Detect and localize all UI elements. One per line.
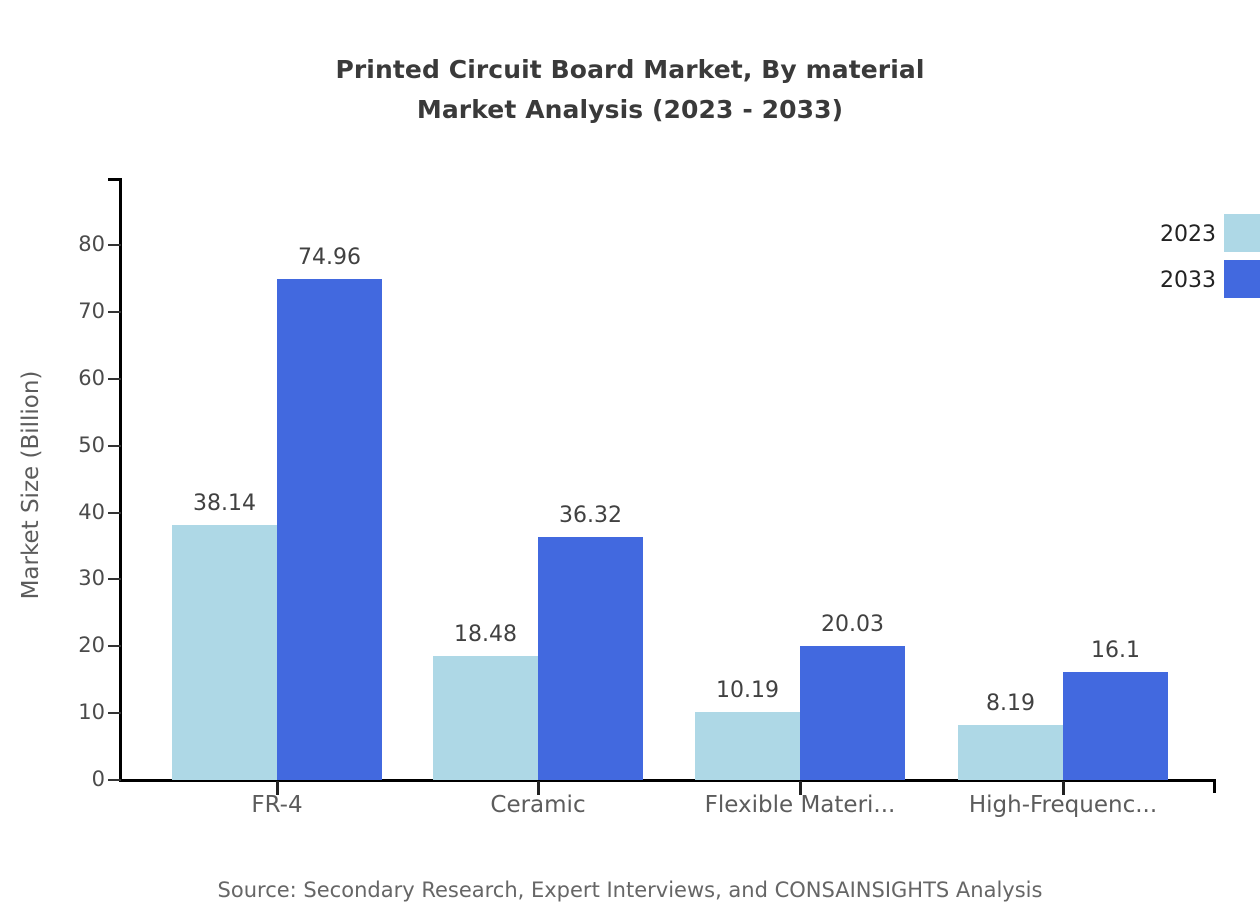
bar-2023-Ceramic[interactable] (433, 656, 538, 780)
bar-value-label: 10.19 (675, 680, 820, 702)
bar-2023-Flexible Materi...[interactable] (695, 712, 800, 780)
y-axis-tick-label: 80 (78, 234, 105, 255)
y-axis-tick (108, 645, 121, 647)
chart-legend: 2023 2033 (1120, 214, 1260, 310)
y-axis-tick (108, 779, 121, 781)
y-axis-tick (108, 378, 121, 380)
bar-2033-FR-4[interactable] (277, 279, 382, 780)
y-axis-tick-label: 0 (92, 769, 105, 790)
x-axis-category-label: Flexible Materi... (660, 793, 940, 818)
y-axis-tick-label: 20 (78, 635, 105, 656)
y-axis-tick (108, 311, 121, 313)
chart-subtitle: Market Analysis (2023 - 2033) (0, 90, 1260, 130)
legend-label: 2033 (1120, 270, 1216, 292)
source-note: Source: Secondary Research, Expert Inter… (0, 878, 1260, 902)
x-axis-right-cap (1213, 779, 1216, 793)
y-axis-tick-label: 70 (78, 301, 105, 322)
bar-value-label: 16.1 (1043, 640, 1188, 662)
bar-2023-High-Frequenc...[interactable] (958, 725, 1063, 780)
legend-label: 2023 (1120, 224, 1216, 246)
bar-value-label: 38.14 (152, 493, 297, 515)
bar-value-label: 36.32 (518, 505, 663, 527)
legend-item-2023[interactable]: 2023 (1120, 214, 1260, 256)
bar-2033-Flexible Materi...[interactable] (800, 646, 905, 780)
y-axis-spine (119, 178, 122, 782)
y-axis-tick (108, 445, 121, 447)
x-axis-category-label: High-Frequenc... (923, 793, 1203, 818)
y-axis-tick-label: 10 (78, 702, 105, 723)
bar-2033-High-Frequenc...[interactable] (1063, 672, 1168, 780)
y-axis-tick (108, 512, 121, 514)
legend-swatch (1224, 214, 1260, 252)
bar-value-label: 18.48 (413, 624, 558, 646)
y-axis-tick (108, 578, 121, 580)
chart-title: Printed Circuit Board Market, By materia… (0, 50, 1260, 90)
y-axis-top-cap (108, 178, 122, 181)
y-axis-tick-label: 40 (78, 502, 105, 523)
y-axis-title: Market Size (Billion) (14, 355, 48, 615)
y-axis-tick-label: 50 (78, 435, 105, 456)
bar-value-label: 20.03 (780, 614, 925, 636)
bar-value-label: 74.96 (257, 247, 402, 269)
bar-value-label: 8.19 (938, 693, 1083, 715)
y-axis-tick (108, 712, 121, 714)
x-axis-category-label: Ceramic (398, 793, 678, 818)
y-axis-tick-label: 30 (78, 568, 105, 589)
y-axis-tick-label: 60 (78, 368, 105, 389)
chart-container: Printed Circuit Board Market, By materia… (0, 0, 1260, 920)
x-axis-category-label: FR-4 (137, 793, 417, 818)
chart-title-block: Printed Circuit Board Market, By materia… (0, 50, 1260, 130)
legend-item-2033[interactable]: 2033 (1120, 260, 1260, 302)
legend-swatch (1224, 260, 1260, 298)
bar-2033-Ceramic[interactable] (538, 537, 643, 780)
y-axis-title-wrapper: Market Size (Billion) (14, 355, 48, 615)
y-axis-tick (108, 244, 121, 246)
bar-2023-FR-4[interactable] (172, 525, 277, 780)
